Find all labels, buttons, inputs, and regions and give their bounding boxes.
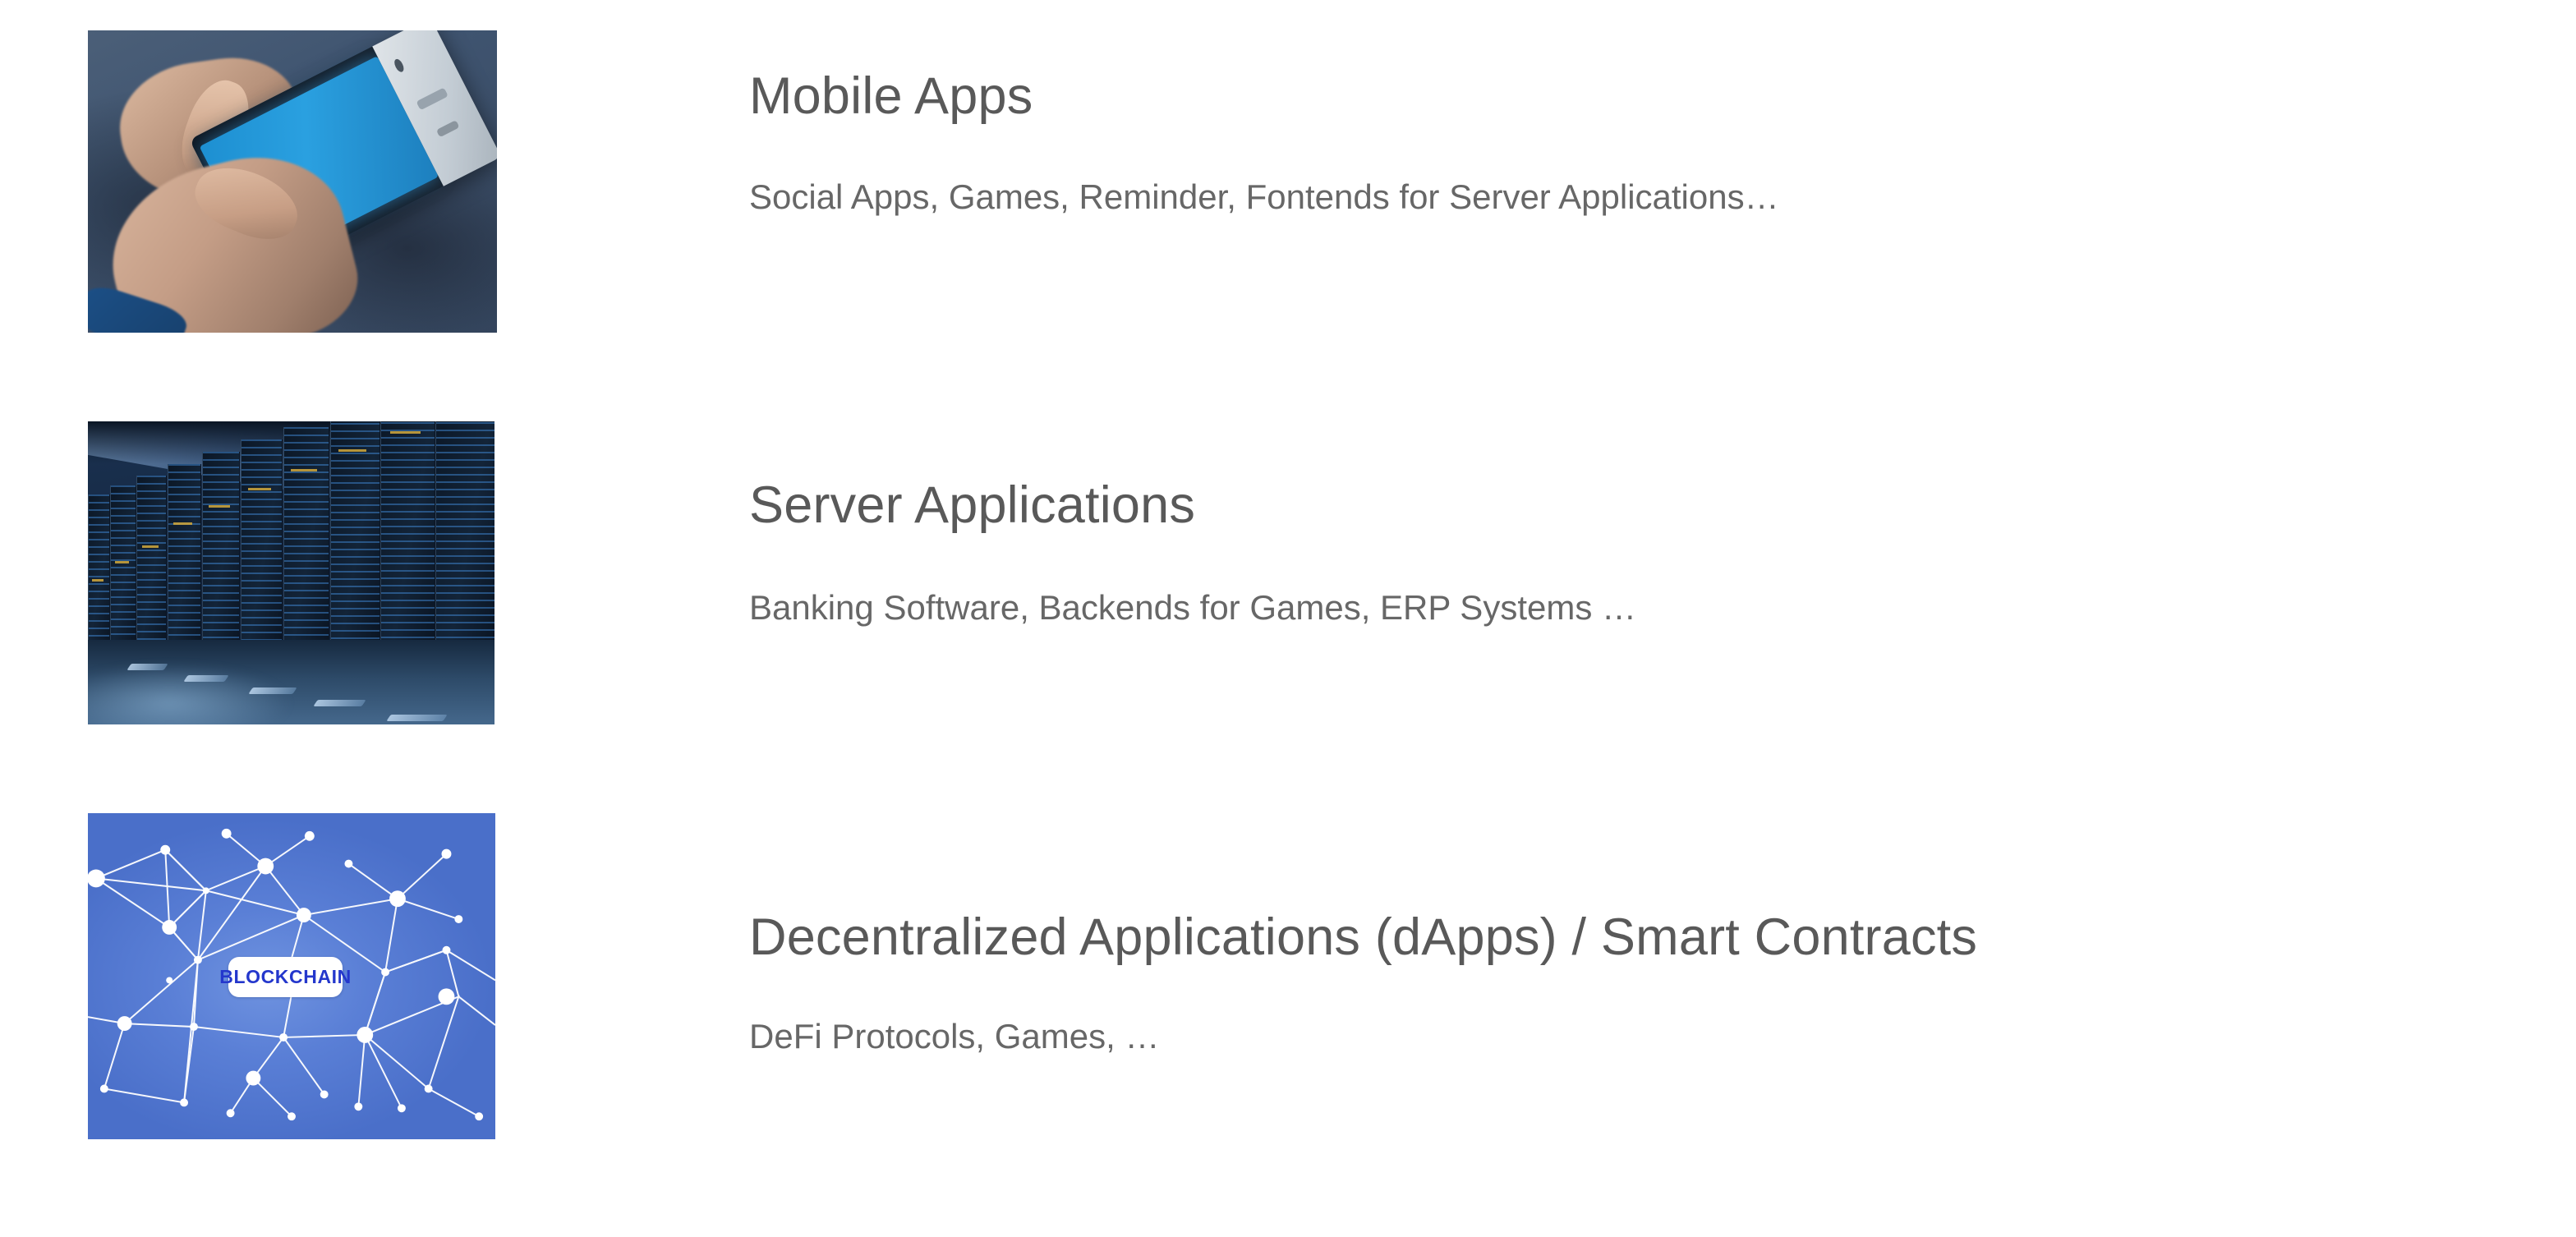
lower-speaker-grille: [437, 120, 460, 137]
blockchain-label-text: BLOCKCHAIN: [219, 966, 352, 988]
server-rack: [241, 439, 283, 658]
hands-holding-smartphone-photo: [88, 30, 497, 333]
floor-tile: [387, 715, 448, 721]
earpiece-speaker: [416, 87, 448, 109]
blockchain-label-badge: BLOCKCHAIN: [228, 957, 343, 998]
feature-thumbnail-server-applications[interactable]: [88, 421, 494, 724]
floor-tile: [183, 675, 228, 682]
floor-tile: [248, 687, 297, 694]
feature-title: Server Applications: [749, 391, 2515, 531]
feature-list-page: Mobile Apps Social Apps, Games, Reminder…: [0, 0, 2576, 1237]
server-rack: [202, 452, 241, 658]
feature-thumbnail-decentralized-applications[interactable]: BLOCKCHAIN: [88, 813, 495, 1139]
feature-description: Social Apps, Games, Reminder, Fontends f…: [749, 122, 2515, 214]
front-camera-dot: [393, 57, 406, 74]
server-rack: [110, 485, 136, 658]
feature-text-column-server-applications: Server Applications Banking Software, Ba…: [749, 391, 2515, 625]
feature-row-mobile-apps: Mobile Apps Social Apps, Games, Reminder…: [0, 0, 2576, 411]
server-rack: [330, 421, 380, 658]
floor-tile: [313, 700, 366, 706]
feature-title: Decentralized Applications (dApps) / Sma…: [749, 783, 2515, 963]
blockchain-network-graphic: BLOCKCHAIN: [88, 813, 495, 1139]
server-rack: [435, 421, 494, 658]
data-center-server-racks-photo: [88, 421, 494, 724]
floor-tile: [126, 664, 168, 670]
feature-text-column-decentralized-applications: Decentralized Applications (dApps) / Sma…: [749, 783, 2515, 1054]
server-rack: [136, 476, 167, 657]
server-rack: [283, 427, 329, 657]
server-rack: [88, 494, 110, 658]
feature-row-decentralized-applications: BLOCKCHAIN Decentralized Applications (d…: [0, 783, 2576, 1237]
feature-text-column-mobile-apps: Mobile Apps Social Apps, Games, Reminder…: [749, 0, 2515, 214]
feature-title: Mobile Apps: [749, 0, 2515, 122]
feature-description: DeFi Protocols, Games, …: [749, 963, 2515, 1054]
feature-description: Banking Software, Backends for Games, ER…: [749, 531, 2515, 625]
server-rack: [168, 464, 202, 658]
server-rack: [380, 421, 435, 658]
feature-row-server-applications: Server Applications Banking Software, Ba…: [0, 391, 2576, 802]
feature-thumbnail-mobile-apps[interactable]: [88, 30, 497, 333]
